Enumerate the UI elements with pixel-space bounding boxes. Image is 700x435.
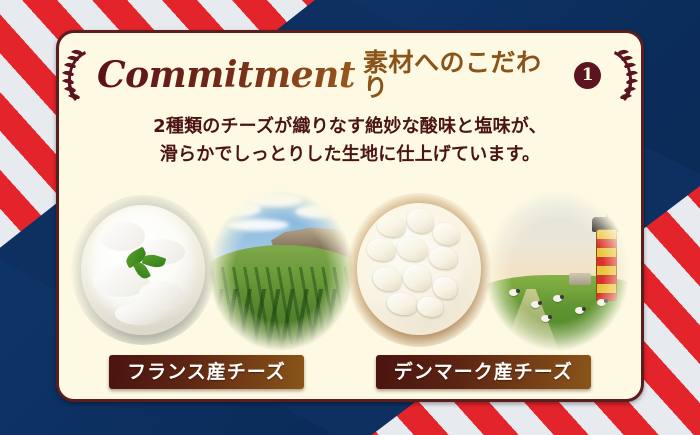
title-english: Commitment	[97, 57, 359, 93]
subtitle-text: 2種類のチーズが織りなす絶妙な酸味と塩味が、 滑らかでしっとりした生地に仕上げて…	[59, 113, 641, 169]
laurel-left-icon	[59, 47, 93, 103]
label-france-cheese: フランス産チーズ	[109, 355, 304, 389]
title-japanese: 素材へのこだわり	[363, 50, 564, 100]
label-denmark-cheese: デンマーク産チーズ	[376, 355, 591, 389]
promotional-banner: Commitment 素材へのこだわり 1	[0, 0, 700, 435]
title-row: Commitment 素材へのこだわり 1	[59, 47, 641, 103]
photo-lighthouse-meadow	[482, 185, 632, 357]
subtitle-line-1: 2種類のチーズが織りなす絶妙な酸味と塩味が、	[59, 113, 641, 141]
label-denmark-cheese-text: デンマーク産チーズ	[394, 363, 573, 382]
photo-strip	[59, 185, 641, 357]
laurel-right-icon	[607, 47, 641, 103]
step-number-badge: 1	[574, 62, 601, 89]
photo-cream-cheese-bowl	[68, 185, 218, 357]
caption-labels: フランス産チーズ デンマーク産チーズ	[59, 355, 641, 395]
label-france-cheese-text: フランス産チーズ	[127, 363, 286, 382]
content-card: Commitment 素材へのこだわり 1	[56, 30, 644, 402]
photo-cottage-cheese-bowl	[344, 185, 494, 357]
photo-french-vineyard	[206, 185, 356, 357]
subtitle-line-2: 滑らかでしっとりした生地に仕上げています。	[59, 141, 641, 169]
